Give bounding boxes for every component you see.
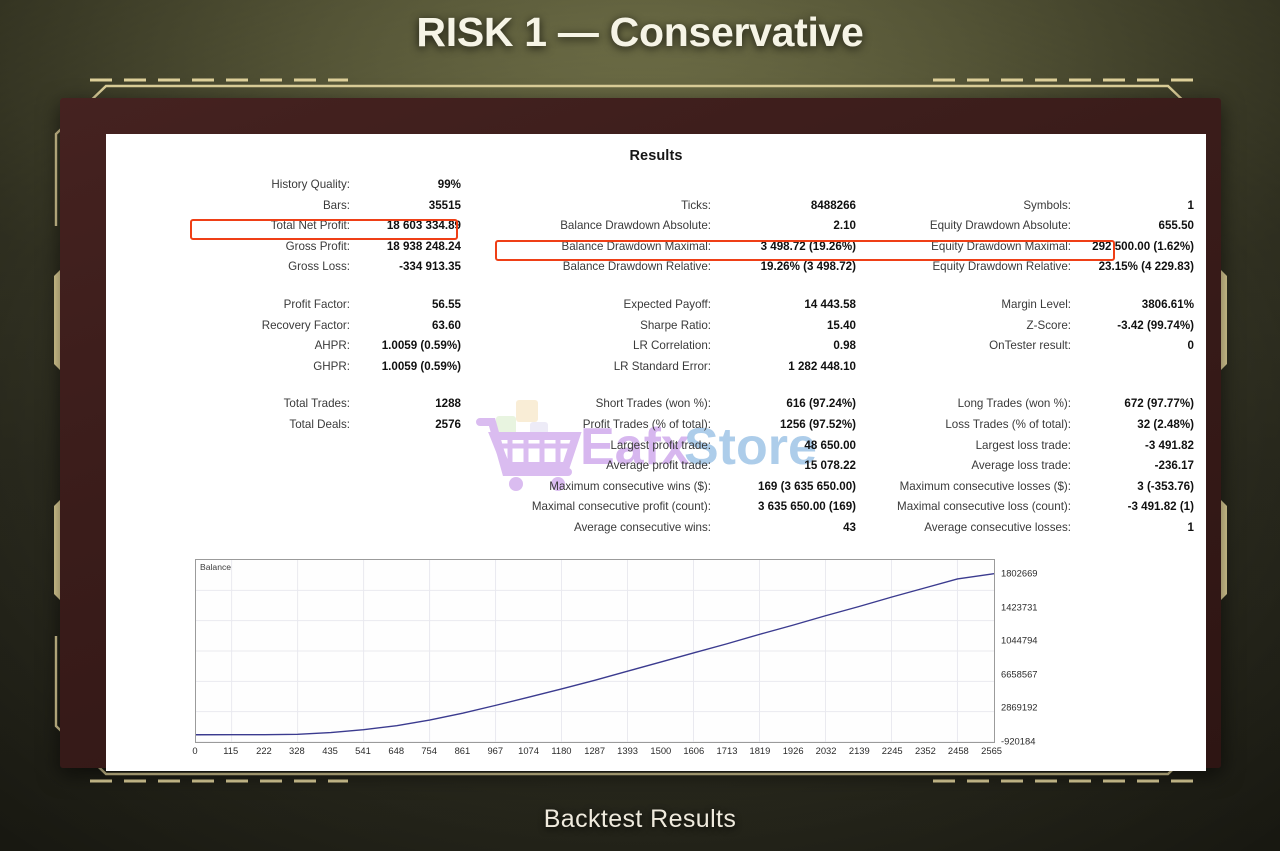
chart-x-tick: 2245 xyxy=(882,745,903,756)
stat-row: Total Trades: 1288 xyxy=(106,397,461,418)
stat-value: 32 (2.48%) xyxy=(1078,418,1206,431)
stat-value: -236.17 xyxy=(1078,459,1206,472)
chart-x-tick: 1500 xyxy=(650,745,671,756)
stat-row: Z-Score: -3.42 (99.74%) xyxy=(856,319,1206,340)
stat-value: 3 635 650.00 (169) xyxy=(718,500,856,513)
chart-x-tick: 1393 xyxy=(617,745,638,756)
stat-label: Balance Drawdown Absolute: xyxy=(461,219,718,232)
stat-value: 3806.61% xyxy=(1078,298,1206,311)
stat-label: Equity Drawdown Relative: xyxy=(856,260,1078,273)
stat-value: 14 443.58 xyxy=(718,298,856,311)
stat-value: 655.50 xyxy=(1078,219,1206,232)
stats-block-2: Profit Factor: 56.55 Recovery Factor: 63… xyxy=(106,298,1206,380)
stat-row: Profit Factor: 56.55 xyxy=(106,298,461,319)
chart-x-tick: 222 xyxy=(256,745,272,756)
chart-x-tick: 1074 xyxy=(518,745,539,756)
stat-label: Equity Drawdown Absolute: xyxy=(856,219,1078,232)
stat-value: 19.26% (3 498.72) xyxy=(718,260,856,273)
stat-label: AHPR: xyxy=(106,339,357,352)
stat-row-total-net-profit: Total Net Profit: 18 603 334.89 xyxy=(106,219,461,240)
chart-y-axis-labels: 18026691423731104479466585672869192-9201… xyxy=(1001,559,1083,743)
stat-value: 56.55 xyxy=(357,298,461,311)
stat-row: Margin Level: 3806.61% xyxy=(856,298,1206,319)
stat-label: Total Net Profit: xyxy=(106,219,357,232)
stat-row: Profit Trades (% of total): 1256 (97.52%… xyxy=(461,418,856,439)
stat-row: Balance Drawdown Relative: 19.26% (3 498… xyxy=(461,260,856,281)
stat-label: Largest profit trade: xyxy=(461,439,718,452)
stat-value: -3.42 (99.74%) xyxy=(1078,319,1206,332)
stat-value: 1 282 448.10 xyxy=(718,360,856,373)
report-sheet: Results xyxy=(106,134,1206,771)
stat-row: Short Trades (won %): 616 (97.24%) xyxy=(461,397,856,418)
stat-label: Maximal consecutive profit (count): xyxy=(461,500,718,513)
stat-label: Maximum consecutive losses ($): xyxy=(856,480,1078,493)
stat-label: Symbols: xyxy=(856,199,1078,212)
stat-label: Total Deals: xyxy=(106,418,357,431)
block3-col-middle: Short Trades (won %): 616 (97.24%) Profi… xyxy=(461,397,856,541)
chart-x-tick: 328 xyxy=(289,745,305,756)
chart-plot-area: Balance xyxy=(195,559,995,743)
slide-canvas: RISK 1 — Conservative Resu xyxy=(0,0,1280,851)
stat-value: 63.60 xyxy=(357,319,461,332)
chart-x-tick: 648 xyxy=(388,745,404,756)
block1-col-right: Symbols: 1 Equity Drawdown Absolute: 655… xyxy=(856,178,1206,281)
stat-row: Maximal consecutive profit (count): 3 63… xyxy=(461,500,856,521)
stat-label: Bars: xyxy=(106,199,357,212)
stat-value: 15 078.22 xyxy=(718,459,856,472)
stat-label: Largest loss trade: xyxy=(856,439,1078,452)
stat-value: -3 491.82 xyxy=(1078,439,1206,452)
stat-label: Gross Loss: xyxy=(106,260,357,273)
stat-value: 616 (97.24%) xyxy=(718,397,856,410)
stat-row: Bars: 35515 xyxy=(106,199,461,220)
stat-label: Long Trades (won %): xyxy=(856,397,1078,410)
stat-label: Margin Level: xyxy=(856,298,1078,311)
stat-value: 43 xyxy=(718,521,856,534)
chart-y-tick: -920184 xyxy=(1001,736,1035,747)
report-title: Results xyxy=(106,148,1206,164)
stat-label: Short Trades (won %): xyxy=(461,397,718,410)
stat-label: Ticks: xyxy=(461,199,718,212)
stat-row: Maximum consecutive losses ($): 3 (-353.… xyxy=(856,480,1206,501)
stat-value: 292 500.00 (1.62%) xyxy=(1078,240,1206,253)
chart-x-tick: 435 xyxy=(322,745,338,756)
stat-label: Loss Trades (% of total): xyxy=(856,418,1078,431)
stat-label: Profit Factor: xyxy=(106,298,357,311)
chart-y-tick: 6658567 xyxy=(1001,668,1038,679)
chart-x-tick: 1606 xyxy=(683,745,704,756)
stat-row: Gross Profit: 18 938 248.24 xyxy=(106,240,461,261)
chart-x-tick: 967 xyxy=(487,745,503,756)
decorative-frame: Results xyxy=(48,76,1233,784)
stat-value: 15.40 xyxy=(718,319,856,332)
chart-x-tick: 1926 xyxy=(783,745,804,756)
chart-x-tick: 2139 xyxy=(849,745,870,756)
chart-x-tick: 0 xyxy=(192,745,197,756)
chart-x-tick: 1713 xyxy=(717,745,738,756)
stat-row-equity-drawdown-maximal: Equity Drawdown Maximal: 292 500.00 (1.6… xyxy=(856,240,1206,261)
stat-label: Maximal consecutive loss (count): xyxy=(856,500,1078,513)
stat-value: 1.0059 (0.59%) xyxy=(357,360,461,373)
stat-value: 1 xyxy=(1078,199,1206,212)
chart-y-tick: 1423731 xyxy=(1001,601,1038,612)
stat-row: Symbols: 1 xyxy=(856,199,1206,220)
stat-row: Average loss trade: -236.17 xyxy=(856,459,1206,480)
stat-row: History Quality: 99% xyxy=(106,178,461,199)
stat-value: 99% xyxy=(357,178,461,191)
stat-value: 48 650.00 xyxy=(718,439,856,452)
stat-row: Long Trades (won %): 672 (97.77%) xyxy=(856,397,1206,418)
stat-label: Average consecutive losses: xyxy=(856,521,1078,534)
stat-label: Maximum consecutive wins ($): xyxy=(461,480,718,493)
stat-row: Largest loss trade: -3 491.82 xyxy=(856,439,1206,460)
block1-col-left: History Quality: 99% Bars: 35515 Total N… xyxy=(106,178,461,281)
stats-block-3: Total Trades: 1288 Total Deals: 2576 xyxy=(106,397,1206,541)
stat-value: 23.15% (4 229.83) xyxy=(1078,260,1206,273)
stat-label: LR Standard Error: xyxy=(461,360,718,373)
stat-label: Z-Score: xyxy=(856,319,1078,332)
stat-row: Loss Trades (% of total): 32 (2.48%) xyxy=(856,418,1206,439)
stat-value: 1.0059 (0.59%) xyxy=(357,339,461,352)
stat-row: Total Deals: 2576 xyxy=(106,418,461,439)
stat-row-balance-drawdown-maximal: Balance Drawdown Maximal: 3 498.72 (19.2… xyxy=(461,240,856,261)
backtest-report: Results xyxy=(106,134,1206,771)
balance-chart: Balance 18026691423731104479466585672869… xyxy=(195,559,1083,755)
block1-col-middle: Ticks: 8488266 Balance Drawdown Absolute… xyxy=(461,178,856,281)
stat-value: 169 (3 635 650.00) xyxy=(718,480,856,493)
stat-value: 672 (97.77%) xyxy=(1078,397,1206,410)
block2-col-left: Profit Factor: 56.55 Recovery Factor: 63… xyxy=(106,298,461,380)
stat-label: GHPR: xyxy=(106,360,357,373)
chart-x-tick: 2032 xyxy=(816,745,837,756)
chart-x-tick: 754 xyxy=(421,745,437,756)
stat-row: AHPR: 1.0059 (0.59%) xyxy=(106,339,461,360)
stat-value: 3 498.72 (19.26%) xyxy=(718,240,856,253)
chart-x-tick: 1287 xyxy=(584,745,605,756)
slide-headline: RISK 1 — Conservative xyxy=(0,9,1280,56)
stat-label: Equity Drawdown Maximal: xyxy=(856,240,1078,253)
stat-label: Expected Payoff: xyxy=(461,298,718,311)
stat-value: 1256 (97.52%) xyxy=(718,418,856,431)
stat-label: Sharpe Ratio: xyxy=(461,319,718,332)
stat-row: GHPR: 1.0059 (0.59%) xyxy=(106,360,461,381)
chart-x-tick: 541 xyxy=(355,745,371,756)
stat-label: Balance Drawdown Relative: xyxy=(461,260,718,273)
stat-row: Balance Drawdown Absolute: 2.10 xyxy=(461,219,856,240)
chart-x-tick: 115 xyxy=(223,745,238,756)
stat-row: Average profit trade: 15 078.22 xyxy=(461,459,856,480)
stat-value: 0 xyxy=(1078,339,1206,352)
stat-label: History Quality: xyxy=(106,178,357,191)
stat-value: 1288 xyxy=(357,397,461,410)
stat-value: -3 491.82 (1) xyxy=(1078,500,1206,513)
stat-row: Gross Loss: -334 913.35 xyxy=(106,260,461,281)
chart-x-tick: 1180 xyxy=(551,745,571,756)
stat-row: Equity Drawdown Relative: 23.15% (4 229.… xyxy=(856,260,1206,281)
stat-row: Recovery Factor: 63.60 xyxy=(106,319,461,340)
stat-value: 18 603 334.89 xyxy=(357,219,461,232)
stat-row: LR Standard Error: 1 282 448.10 xyxy=(461,360,856,381)
chart-y-tick: 2869192 xyxy=(1001,702,1038,713)
block3-col-right: Long Trades (won %): 672 (97.77%) Loss T… xyxy=(856,397,1206,541)
stat-row: Ticks: 8488266 xyxy=(461,199,856,220)
stat-label: Profit Trades (% of total): xyxy=(461,418,718,431)
stat-label: Recovery Factor: xyxy=(106,319,357,332)
stat-value: 8488266 xyxy=(718,199,856,212)
stat-label: Average consecutive wins: xyxy=(461,521,718,534)
stat-row: Maximum consecutive wins ($): 169 (3 635… xyxy=(461,480,856,501)
block3-col-left: Total Trades: 1288 Total Deals: 2576 xyxy=(106,397,461,541)
stat-row: OnTester result: 0 xyxy=(856,339,1206,360)
stat-value: 18 938 248.24 xyxy=(357,240,461,253)
chart-x-tick: 2458 xyxy=(948,745,969,756)
stat-value: 35515 xyxy=(357,199,461,212)
block2-col-middle: Expected Payoff: 14 443.58 Sharpe Ratio:… xyxy=(461,298,856,380)
stat-value: 0.98 xyxy=(718,339,856,352)
stat-value: 3 (-353.76) xyxy=(1078,480,1206,493)
stat-label: LR Correlation: xyxy=(461,339,718,352)
stat-row: Sharpe Ratio: 15.40 xyxy=(461,319,856,340)
stat-value: -334 913.35 xyxy=(357,260,461,273)
report-plate: Results xyxy=(60,98,1221,768)
chart-x-tick: 2565 xyxy=(981,745,1002,756)
stat-label: Gross Profit: xyxy=(106,240,357,253)
stat-row: LR Correlation: 0.98 xyxy=(461,339,856,360)
block2-col-right: Margin Level: 3806.61% Z-Score: -3.42 (9… xyxy=(856,298,1206,380)
stat-value: 2.10 xyxy=(718,219,856,232)
chart-x-tick: 2352 xyxy=(915,745,936,756)
stat-row: Average consecutive losses: 1 xyxy=(856,521,1206,542)
stat-row: Expected Payoff: 14 443.58 xyxy=(461,298,856,319)
stat-label: Average loss trade: xyxy=(856,459,1078,472)
stat-value: 2576 xyxy=(357,418,461,431)
stat-label: Average profit trade: xyxy=(461,459,718,472)
stat-row: Largest profit trade: 48 650.00 xyxy=(461,439,856,460)
stat-label: Balance Drawdown Maximal: xyxy=(461,240,718,253)
stats-block-1: History Quality: 99% Bars: 35515 Total N… xyxy=(106,178,1206,281)
stat-row: Maximal consecutive loss (count): -3 491… xyxy=(856,500,1206,521)
slide-footer: Backtest Results xyxy=(0,805,1280,834)
stat-value: 1 xyxy=(1078,521,1206,534)
chart-x-tick: 1819 xyxy=(749,745,770,756)
stat-label: Total Trades: xyxy=(106,397,357,410)
stat-row: Equity Drawdown Absolute: 655.50 xyxy=(856,219,1206,240)
chart-y-tick: 1044794 xyxy=(1001,635,1038,646)
chart-x-axis-labels: 0115222328435541648754861967107411801287… xyxy=(195,745,995,759)
chart-y-tick: 1802669 xyxy=(1001,568,1038,579)
stat-row: Average consecutive wins: 43 xyxy=(461,521,856,542)
chart-svg xyxy=(196,560,994,742)
stat-label: OnTester result: xyxy=(856,339,1078,352)
chart-x-tick: 861 xyxy=(455,745,471,756)
